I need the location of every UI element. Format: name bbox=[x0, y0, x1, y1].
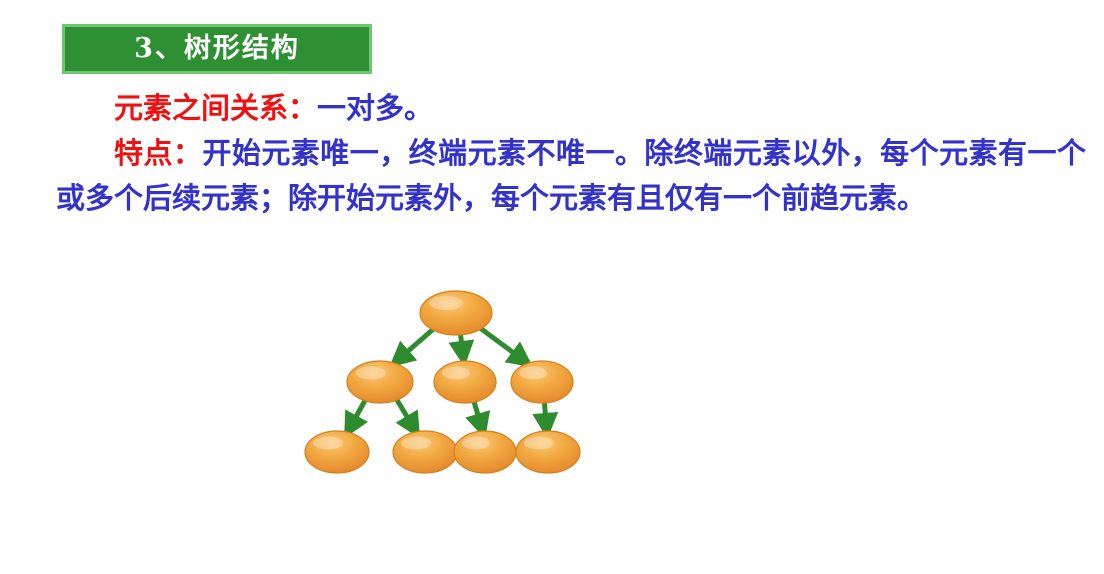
tree-node-l2-b[interactable] bbox=[393, 431, 457, 473]
tree-edge-n1-n5 bbox=[394, 395, 418, 435]
section-title-box: 3、树形结构 bbox=[62, 24, 372, 74]
features-label: 特点： bbox=[114, 136, 202, 170]
paragraph-relation: 元素之间关系：一对多。 bbox=[56, 86, 1086, 131]
tree-diagram bbox=[290, 285, 600, 495]
page-title: 3、树形结构 bbox=[134, 35, 300, 62]
tree-node-l2-a[interactable] bbox=[305, 431, 369, 473]
body-text-block: 元素之间关系：一对多。 特点：开始元素唯一，终端元素不唯一。除终端元素以外，每个… bbox=[56, 86, 1086, 221]
tree-edge-root-right bbox=[476, 325, 530, 365]
tree-node-l1-b[interactable] bbox=[434, 361, 496, 403]
tree-node-l2-c[interactable] bbox=[454, 431, 516, 473]
relation-label: 元素之间关系： bbox=[114, 91, 317, 125]
tree-edge-root-left bbox=[392, 325, 438, 365]
tree-diagram-svg bbox=[290, 285, 600, 495]
features-value: 开始元素唯一，终端元素不唯一。除终端元素以外，每个元素有一个或多个后续元素；除开… bbox=[56, 136, 1086, 215]
slide-canvas: 3、树形结构 元素之间关系：一对多。 特点：开始元素唯一，终端元素不唯一。除终端… bbox=[0, 0, 1104, 574]
tree-node-l1-a[interactable] bbox=[347, 361, 413, 403]
tree-node-l1-c[interactable] bbox=[511, 361, 573, 403]
paragraph-features: 特点：开始元素唯一，终端元素不唯一。除终端元素以外，每个元素有一个或多个后续元素… bbox=[56, 131, 1086, 221]
tree-node-l2-d[interactable] bbox=[516, 431, 580, 473]
relation-value: 一对多。 bbox=[317, 91, 433, 125]
